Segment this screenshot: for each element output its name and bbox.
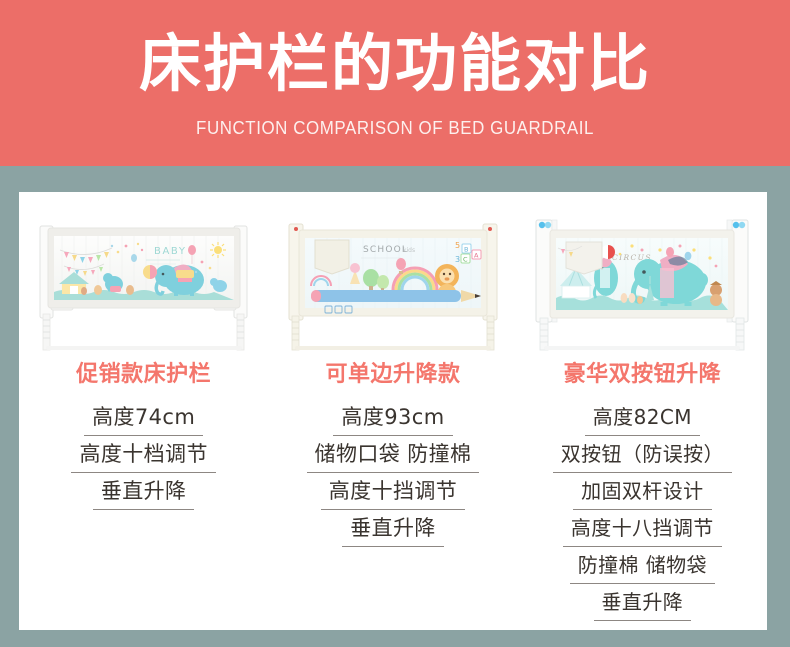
svg-text:5: 5 xyxy=(455,241,460,250)
product-image-3: CIRCUS xyxy=(518,206,767,354)
spec-item: 防撞棉 储物袋 xyxy=(570,550,715,584)
spec-item: 垂直升降 xyxy=(342,513,444,547)
spec-item: 高度93cm xyxy=(333,402,452,436)
spec-list-3: 高度82CM 双按钮（防误按） 加固双杆设计 高度十八挡调节 防撞棉 储物袋 垂… xyxy=(518,402,767,624)
spec-item: 垂直升降 xyxy=(594,587,692,621)
storage-pocket-icon xyxy=(566,242,602,274)
comparison-column-2: SCHOOL kids xyxy=(268,192,517,630)
svg-text:B: B xyxy=(464,246,468,254)
product-print-label-2: SCHOOL xyxy=(363,245,408,255)
product-image-1: BABY xyxy=(19,206,268,354)
bed-guardrail-deluxe-icon: CIRCUS xyxy=(524,206,760,354)
page-subtitle: FUNCTION COMPARISON OF BED GUARDRAIL xyxy=(24,117,767,139)
spec-list-2: 高度93cm 储物口袋 防撞棉 高度十挡调节 垂直升降 xyxy=(268,402,517,550)
svg-text:kids: kids xyxy=(403,247,415,254)
dual-button-right-icon xyxy=(733,222,739,228)
page-title: 床护栏的功能对比 xyxy=(0,26,790,102)
page-root: 床护栏的功能对比 FUNCTION COMPARISON OF BED GUAR… xyxy=(0,0,790,647)
spec-item: 高度74cm xyxy=(84,402,203,436)
comparison-card: BABY xyxy=(19,192,767,630)
storage-pocket-icon xyxy=(315,240,349,274)
svg-text:A: A xyxy=(474,252,479,260)
spec-item: 高度82CM xyxy=(585,402,700,436)
spec-list-1: 高度74cm 高度十档调节 垂直升降 xyxy=(19,402,268,513)
dual-button-left-secondary-icon xyxy=(545,222,551,228)
svg-text:3: 3 xyxy=(455,255,460,264)
spec-item: 储物口袋 防撞棉 xyxy=(307,439,480,473)
dual-button-right-secondary-icon xyxy=(739,222,745,228)
spec-item: 高度十挡调节 xyxy=(321,476,465,510)
bed-guardrail-single-side-icon: SCHOOL kids xyxy=(275,206,511,354)
release-button-right-icon xyxy=(488,227,492,231)
product-print-label-1: BABY xyxy=(154,246,187,257)
spec-item: 加固双杆设计 xyxy=(573,476,711,510)
column-title-3: 豪华双按钮升降 xyxy=(518,360,767,390)
header-banner: 床护栏的功能对比 FUNCTION COMPARISON OF BED GUAR… xyxy=(0,0,790,166)
spec-item: 垂直升降 xyxy=(93,476,195,510)
comparison-column-1: BABY xyxy=(19,192,268,630)
spec-item: 高度十八挡调节 xyxy=(563,513,722,547)
svg-text:C: C xyxy=(463,256,468,264)
spec-item: 双按钮（防误按） xyxy=(553,439,732,473)
product-image-2: SCHOOL kids xyxy=(268,206,517,354)
dual-button-left-icon xyxy=(539,222,545,228)
bed-guardrail-promo-icon: BABY xyxy=(26,206,262,354)
spec-item: 高度十档调节 xyxy=(71,439,215,473)
comparison-column-3: CIRCUS xyxy=(518,192,767,630)
release-button-left-icon xyxy=(294,227,298,231)
column-title-1: 促销款床护栏 xyxy=(19,360,268,390)
column-title-2: 可单边升降款 xyxy=(268,360,517,390)
comparison-columns: BABY xyxy=(19,192,767,630)
